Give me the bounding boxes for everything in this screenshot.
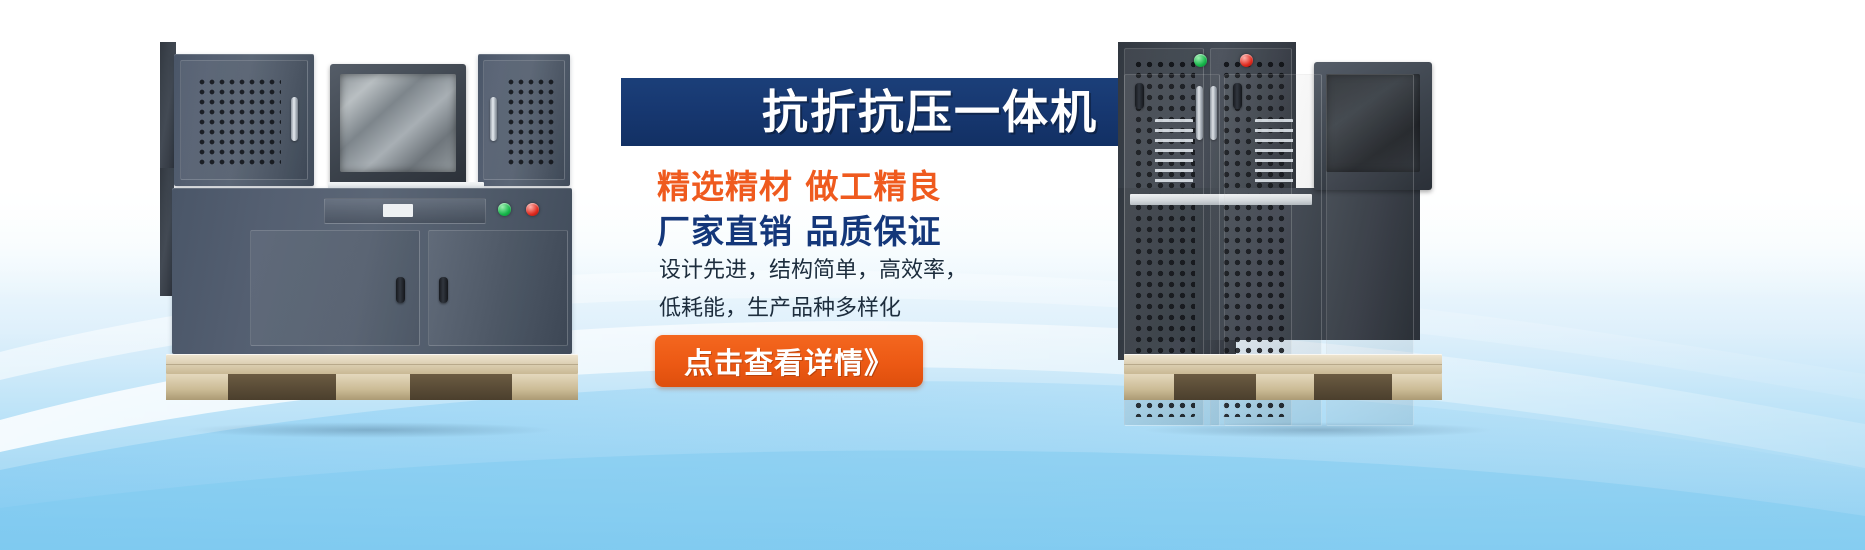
view-details-button[interactable]: 点击查看详情》 — [655, 335, 923, 387]
pallet-leg — [1256, 374, 1314, 400]
pallet-leg — [1124, 374, 1174, 400]
pallet-gap — [228, 374, 336, 400]
monitor-housing — [330, 64, 466, 186]
product-image-right — [1118, 42, 1518, 432]
door-handle — [1135, 83, 1144, 109]
power-indicator[interactable] — [1194, 54, 1207, 67]
door-handle — [396, 277, 405, 303]
lower-cabinet — [1118, 188, 1420, 340]
stop-indicator[interactable] — [526, 203, 539, 216]
perforated-panel — [195, 75, 281, 165]
perforated-panel — [504, 75, 554, 165]
upper-right-door — [483, 60, 565, 180]
lower-door-right — [428, 230, 568, 346]
vent-louvers — [1155, 119, 1193, 185]
pallet-deck — [166, 354, 578, 374]
vent-louvers — [1255, 119, 1293, 185]
pallet-leg — [336, 374, 410, 400]
monitor-screen — [340, 74, 456, 172]
upper-left-cabinet — [174, 54, 314, 186]
cabinet-handle — [490, 97, 497, 141]
control-label — [383, 204, 413, 217]
pallet-gap — [410, 374, 512, 400]
wooden-pallet — [1124, 354, 1442, 402]
lower-cabinet — [172, 188, 572, 354]
lower-door-left — [250, 230, 420, 346]
product-image-left — [160, 42, 580, 432]
pallet-leg — [166, 374, 228, 400]
view-details-label: 点击查看详情》 — [684, 340, 894, 382]
pallet-leg — [1392, 374, 1442, 400]
promo-banner: 抗折抗压一体机 精选精材 做工精良 厂家直销 品质保证 设计先进，结构简单，高效… — [0, 0, 1865, 550]
pallet-leg — [512, 374, 578, 400]
door-handle — [439, 277, 448, 303]
pallet-gap — [1314, 374, 1392, 400]
product-shadow-left — [185, 422, 555, 438]
power-indicator[interactable] — [498, 203, 511, 216]
upper-right-cabinet — [478, 54, 570, 186]
stop-indicator[interactable] — [1240, 54, 1253, 67]
wooden-pallet — [166, 354, 578, 402]
pallet-gap — [1174, 374, 1256, 400]
pallet-deck — [1124, 354, 1442, 374]
door-handle — [1233, 83, 1242, 109]
upper-left-door — [180, 60, 308, 180]
cabinet-handle — [291, 97, 298, 141]
control-panel — [324, 198, 486, 224]
page-title: 抗折抗压一体机 — [762, 89, 1098, 135]
